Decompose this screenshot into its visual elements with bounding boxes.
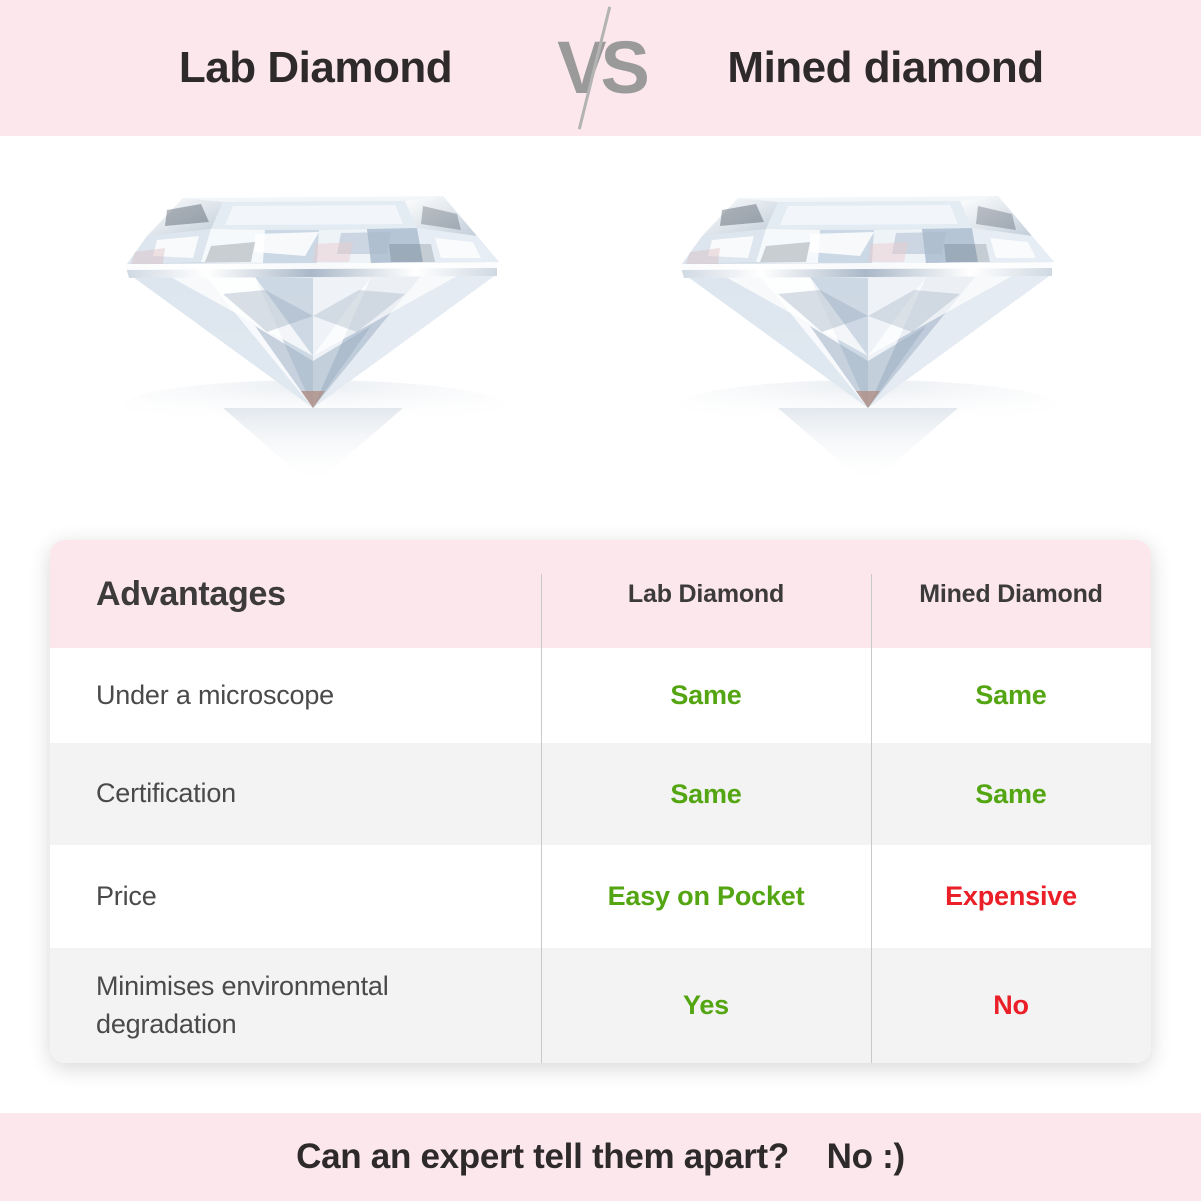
mined-value: Expensive xyxy=(945,881,1077,911)
lab-diamond-image xyxy=(105,156,525,496)
row-lab-cell: Same xyxy=(541,680,871,711)
header-label-advantages: Advantages xyxy=(96,575,286,613)
row-mined-cell: Expensive xyxy=(871,881,1151,912)
footer-band: Can an expert tell them apart? No :) xyxy=(0,1113,1201,1201)
column-divider-1 xyxy=(541,648,542,743)
column-divider-2 xyxy=(871,948,872,1063)
lab-value: Same xyxy=(670,779,741,809)
column-divider-1 xyxy=(541,948,542,1063)
row-feature-cell: Certification xyxy=(50,775,541,812)
row-mined-cell: Same xyxy=(871,680,1151,711)
lab-diamond-title: Lab Diamond xyxy=(101,43,531,93)
lab-value: Easy on Pocket xyxy=(608,881,805,911)
column-divider-1 xyxy=(541,743,542,845)
row-lab-cell: Easy on Pocket xyxy=(541,881,871,912)
mined-value: Same xyxy=(975,779,1046,809)
lab-value: Yes xyxy=(683,990,729,1020)
footer-question: Can an expert tell them apart? No :) xyxy=(296,1137,905,1177)
column-divider-1 xyxy=(541,574,542,648)
row-lab-cell: Yes xyxy=(541,990,871,1021)
feature-label: Under a microscope xyxy=(96,680,334,710)
table-row: Under a microscope Same Same xyxy=(50,648,1151,743)
feature-label: Minimises environmental degradation xyxy=(96,968,516,1043)
column-divider-2 xyxy=(871,845,872,948)
diamond-images-area xyxy=(0,136,1201,530)
diamond-icon xyxy=(660,156,1080,496)
table-row: Price Easy on Pocket Expensive xyxy=(50,845,1151,948)
feature-label: Certification xyxy=(96,778,236,808)
table-header-advantages: Advantages xyxy=(50,575,541,614)
comparison-table-card: Advantages Lab Diamond Mined Diamond Und… xyxy=(50,540,1151,1063)
mined-value: Same xyxy=(975,680,1046,710)
row-mined-cell: Same xyxy=(871,779,1151,810)
row-feature-cell: Price xyxy=(50,878,541,915)
header-label-mined: Mined Diamond xyxy=(919,580,1103,608)
diamond-icon xyxy=(105,156,525,496)
row-lab-cell: Same xyxy=(541,779,871,810)
table-row: Minimises environmental degradation Yes … xyxy=(50,948,1151,1063)
header-band: Lab Diamond VS Mined diamond xyxy=(0,0,1201,136)
lab-value: Same xyxy=(670,680,741,710)
table-header-row: Advantages Lab Diamond Mined Diamond xyxy=(50,540,1151,648)
versus-badge: VS xyxy=(531,3,671,133)
row-feature-cell: Under a microscope xyxy=(50,677,541,714)
row-feature-cell: Minimises environmental degradation xyxy=(50,968,541,1043)
column-divider-2 xyxy=(871,648,872,743)
column-divider-1 xyxy=(541,845,542,948)
column-divider-2 xyxy=(871,743,872,845)
mined-value: No xyxy=(993,990,1029,1020)
header-label-lab: Lab Diamond xyxy=(628,580,784,608)
feature-label: Price xyxy=(96,881,157,911)
column-divider-2 xyxy=(871,574,872,648)
mined-diamond-title: Mined diamond xyxy=(671,43,1101,93)
header-inner: Lab Diamond VS Mined diamond xyxy=(0,3,1201,133)
table-header-lab: Lab Diamond xyxy=(541,580,871,609)
table-row: Certification Same Same xyxy=(50,743,1151,845)
mined-diamond-image xyxy=(660,156,1080,496)
table-header-mined: Mined Diamond xyxy=(871,580,1151,609)
row-mined-cell: No xyxy=(871,990,1151,1021)
